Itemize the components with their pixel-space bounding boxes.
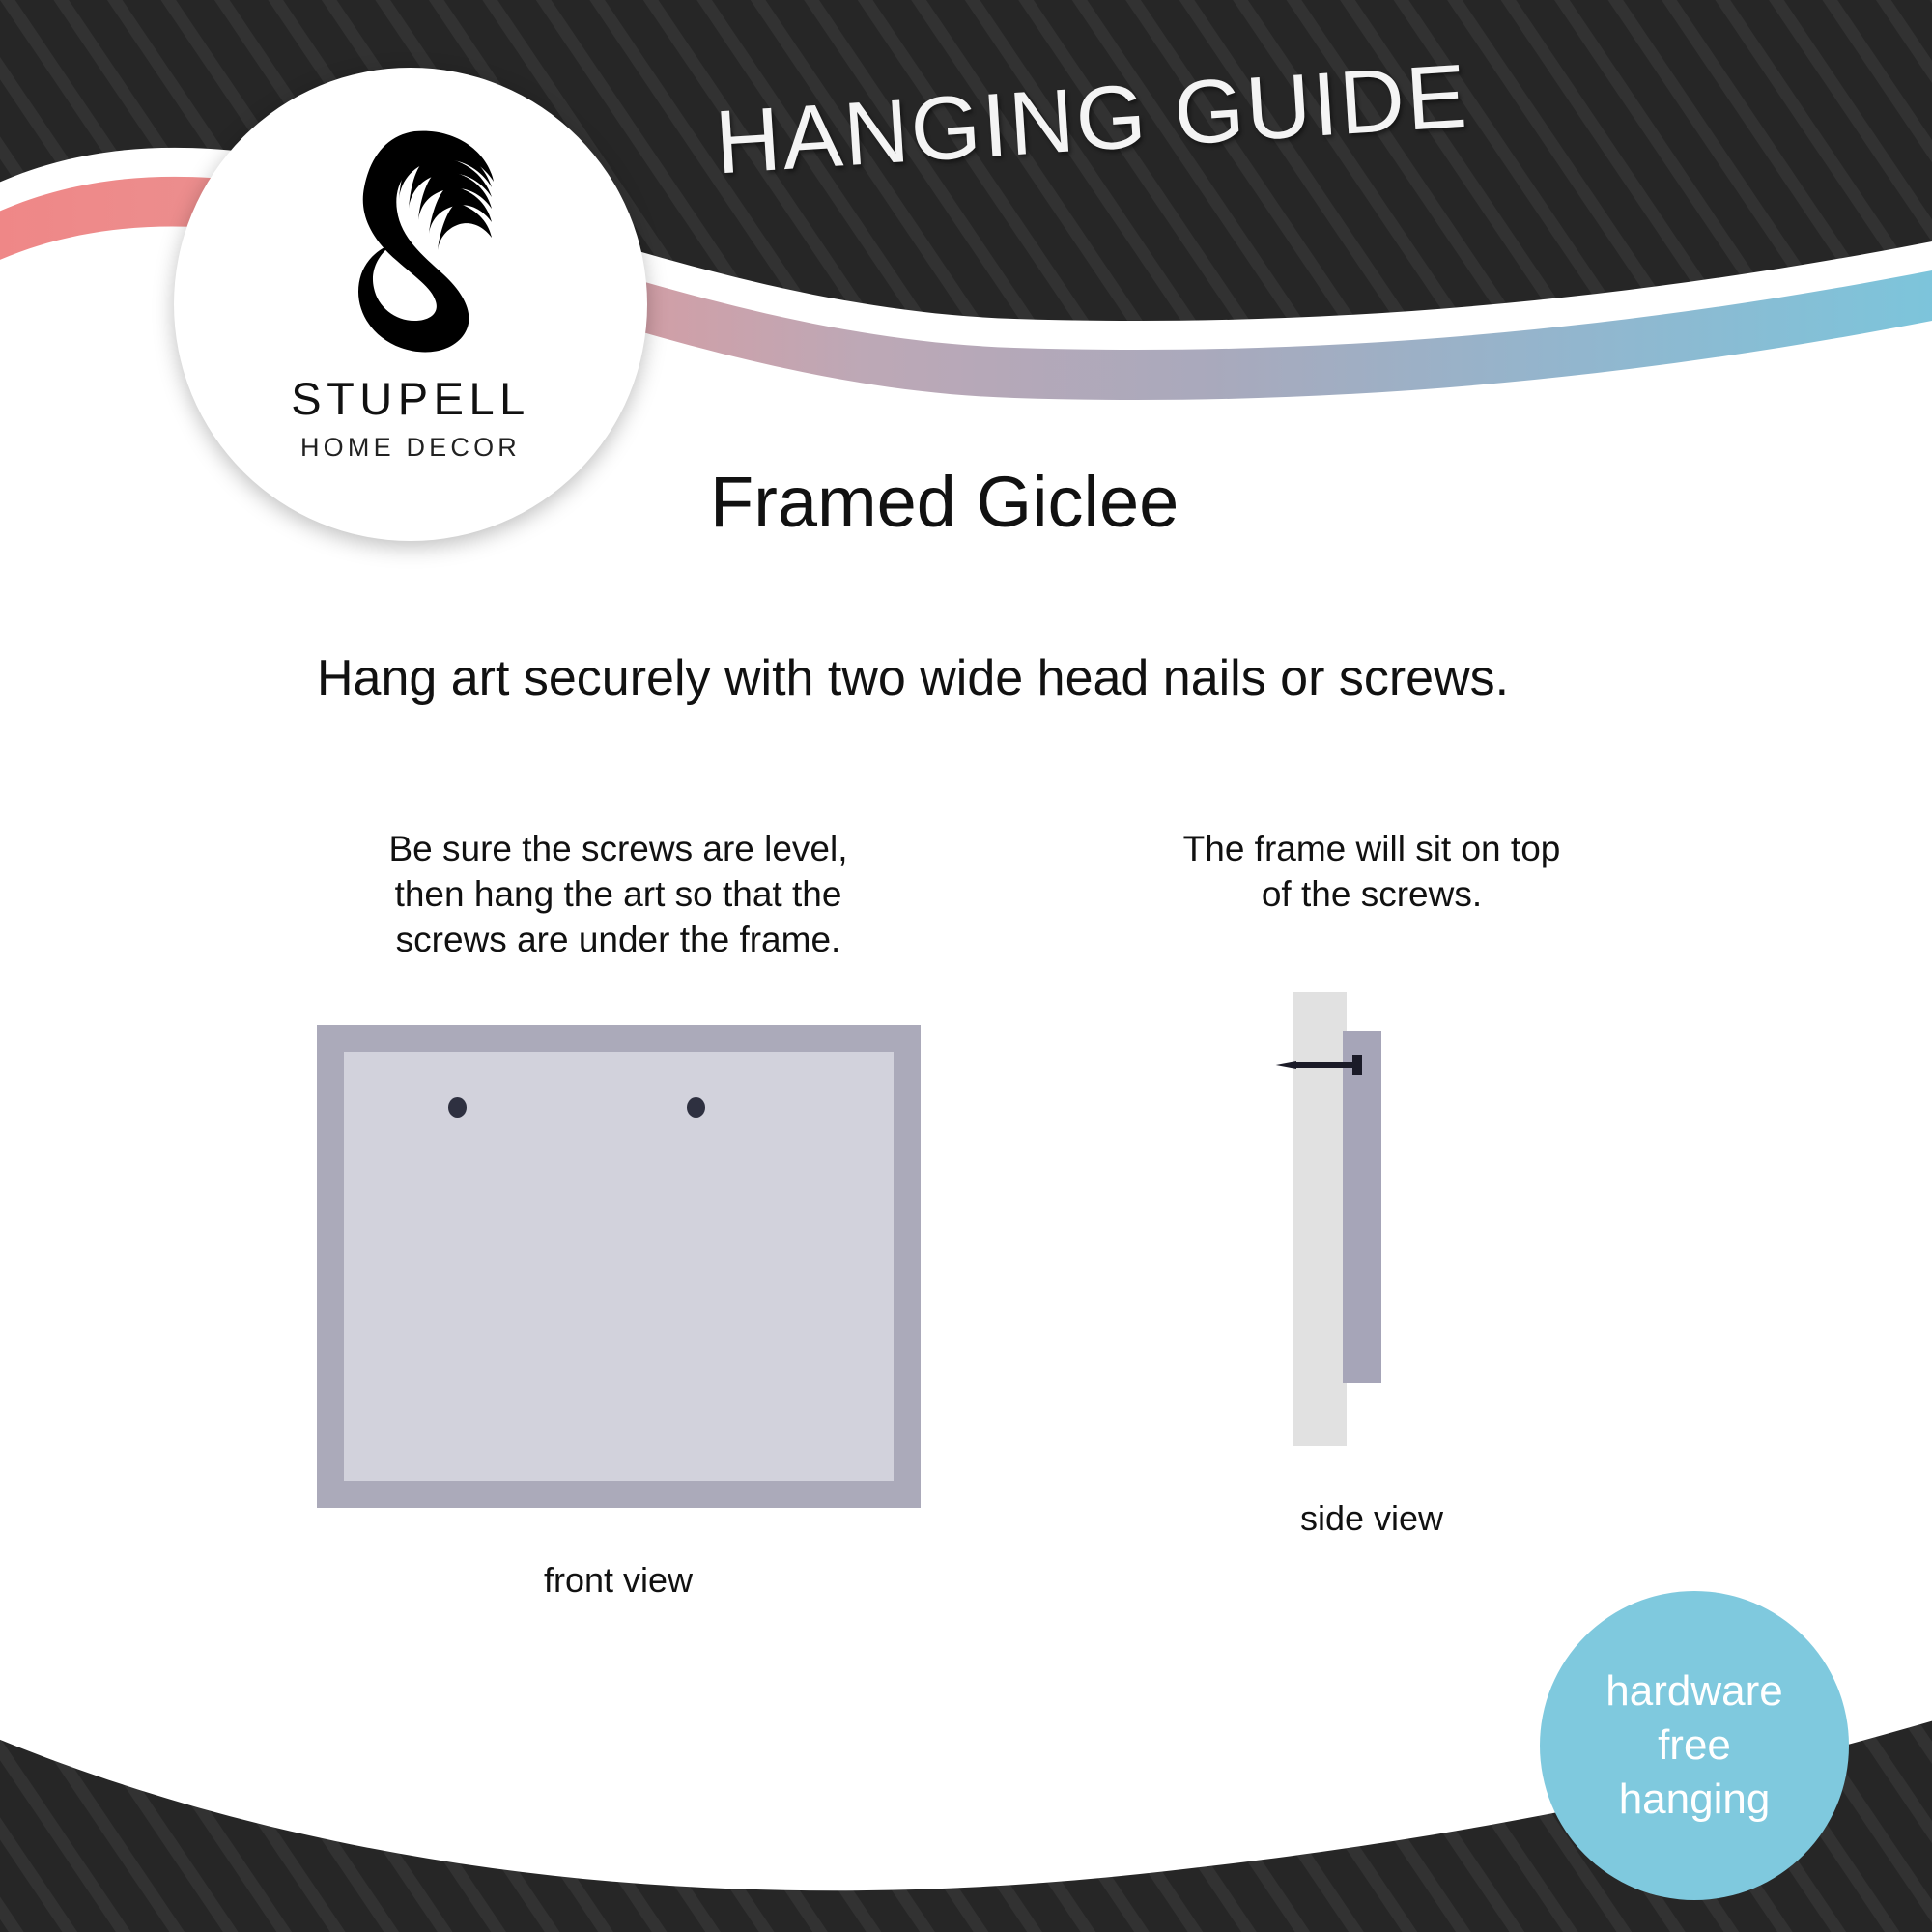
front-view-caption-line3: screws are under the frame. [241, 917, 995, 962]
logo-subwordmark: HOME DECOR [300, 433, 521, 463]
side-view-diagram [1179, 992, 1565, 1446]
side-view-label: side view [995, 1498, 1748, 1539]
screw-dot-right-icon [687, 1097, 705, 1118]
badge-line1: hardware [1605, 1664, 1782, 1719]
stupell-swoosh-logo-icon [314, 114, 507, 360]
front-view-caption: Be sure the screws are level, then hang … [241, 826, 995, 962]
badge-line3: hanging [1619, 1773, 1771, 1827]
diagram-area: Be sure the screws are level, then hang … [0, 826, 1932, 1724]
logo-wordmark: STUPELL [291, 372, 529, 425]
side-view-caption-line1: The frame will sit on top [995, 826, 1748, 871]
nail-icon [1271, 1046, 1406, 1085]
lead-instruction: Hang art securely with two wide head nai… [317, 649, 1509, 707]
side-view-caption: The frame will sit on top of the screws. [995, 826, 1748, 917]
front-view-label: front view [241, 1560, 995, 1601]
front-view-mat [344, 1052, 894, 1481]
product-title: Framed Giclee [710, 461, 1179, 543]
screw-dot-left-icon [448, 1097, 467, 1118]
hardware-free-hanging-badge: hardware free hanging [1540, 1591, 1849, 1900]
front-view-frame [317, 1025, 921, 1508]
side-view-column: The frame will sit on top of the screws.… [995, 826, 1748, 1539]
front-view-column: Be sure the screws are level, then hang … [241, 826, 995, 1601]
front-view-caption-line2: then hang the art so that the [241, 871, 995, 917]
side-view-caption-line2: of the screws. [995, 871, 1748, 917]
front-view-caption-line1: Be sure the screws are level, [241, 826, 995, 871]
badge-line2: free [1658, 1719, 1731, 1773]
logo-badge: STUPELL HOME DECOR [174, 68, 647, 541]
